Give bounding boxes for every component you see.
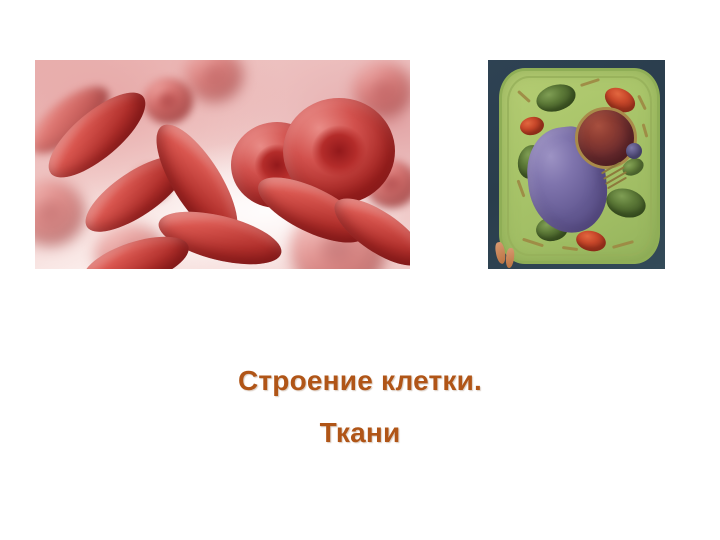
blood-cell-mid (143, 78, 193, 124)
slide-title-line-1: Строение клетки. (0, 355, 720, 407)
blood-cell-blurred (35, 180, 85, 246)
cell-wall (499, 68, 660, 264)
slide-title: Строение клетки. Ткани (0, 355, 720, 459)
red-blood-cells-photo (35, 60, 410, 269)
slide-title-line-2: Ткани (0, 407, 720, 459)
root-hair (505, 248, 515, 269)
blood-cell-blurred (185, 60, 243, 102)
nucleolus (626, 143, 642, 159)
presentation-slide: Строение клетки. Ткани (0, 0, 720, 540)
plant-cell-diagram (488, 60, 665, 269)
nucleus (575, 107, 637, 169)
